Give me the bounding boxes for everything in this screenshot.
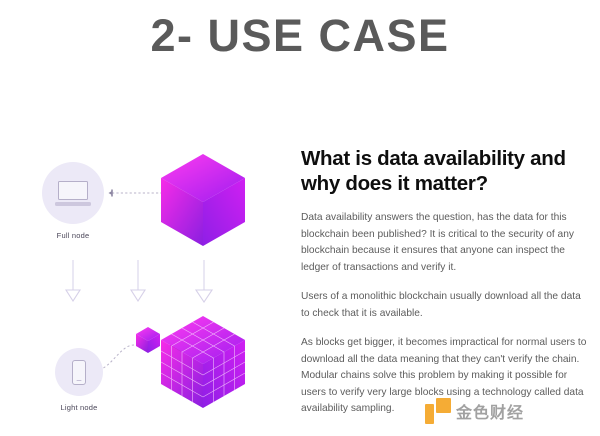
availability-diagram: Full node Light node — [0, 100, 295, 436]
watermark-text: 金色财经 — [456, 399, 524, 423]
large-block-cube — [158, 150, 248, 255]
watermark: 金色财经 — [425, 398, 524, 424]
laptop-icon — [55, 181, 91, 206]
phone-icon — [72, 360, 86, 385]
full-node[interactable]: Full node — [42, 162, 104, 240]
content-paragraph-2: Users of a monolithic blockchain usually… — [301, 289, 591, 322]
watermark-logo-icon — [425, 398, 451, 424]
full-node-bubble — [42, 162, 104, 224]
flow-arrow-2 — [131, 260, 145, 301]
content-column: What is data availability and why does i… — [301, 146, 591, 418]
diagram-connectors — [0, 100, 295, 436]
flow-arrow-1 — [66, 260, 80, 301]
flow-arrow-3 — [196, 260, 212, 302]
sampled-block-cube — [158, 310, 248, 421]
slide-title: 2- USE CASE — [0, 6, 600, 66]
light-node[interactable]: Light node — [48, 348, 110, 412]
light-node-label: Light node — [48, 403, 110, 412]
light-node-bubble — [55, 348, 103, 396]
content-heading: What is data availability and why does i… — [301, 146, 591, 196]
content-paragraph-1: Data availability answers the question, … — [301, 210, 591, 276]
data-sample-cube — [135, 325, 161, 360]
full-node-label: Full node — [42, 231, 104, 240]
